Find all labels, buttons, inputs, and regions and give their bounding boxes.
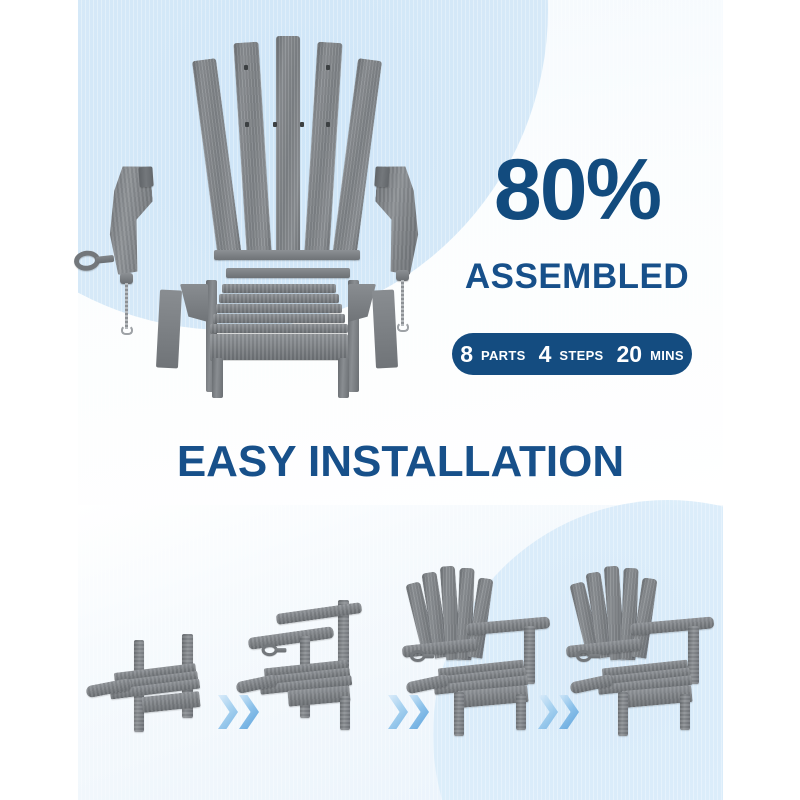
cross-support-bar	[226, 268, 350, 278]
backrest-top-arch-mask	[208, 0, 368, 50]
screw	[244, 65, 248, 70]
back-slat	[276, 36, 300, 258]
spec-mins-unit: MINS	[650, 349, 684, 362]
seat-plank	[213, 314, 345, 323]
double-chevron-right-icon	[538, 695, 558, 729]
seat-front-apron	[210, 334, 348, 360]
step4-rear-leg	[680, 694, 690, 730]
seat-base-assembly	[182, 280, 382, 400]
back-slat	[192, 58, 242, 259]
double-chevron-right-icon	[409, 695, 429, 729]
screw	[245, 122, 249, 127]
cupholder-ring	[262, 643, 287, 658]
assembly-step-4	[560, 560, 730, 740]
cupholder-arm	[589, 654, 600, 658]
screw	[326, 122, 330, 127]
double-chevron-right-icon	[388, 695, 408, 729]
step2-armrest-top	[276, 602, 363, 625]
step3-rear-leg	[516, 694, 526, 730]
spec-parts-unit: PARTS	[481, 349, 526, 362]
left-armrest-bracket	[138, 166, 153, 187]
step2-front-leg	[340, 696, 350, 730]
seat-plank	[219, 294, 339, 303]
page-title: EASY INSTALLATION	[78, 437, 723, 487]
cupholder-ring	[410, 649, 434, 663]
percent-assembled-value: 80%	[452, 150, 702, 230]
assembly-step-1	[86, 610, 236, 740]
spec-steps-unit: STEPS	[559, 349, 603, 362]
cupholder-arm	[423, 654, 434, 658]
backrest-bottom-rail	[214, 250, 360, 260]
hook	[397, 322, 409, 332]
seat-plank	[216, 304, 342, 313]
step3-front-leg	[454, 692, 464, 736]
hook	[121, 325, 133, 335]
screw	[273, 122, 277, 127]
spec-badge: 8 PARTS 4 STEPS 20 MINS	[452, 333, 692, 375]
step-arrow-1	[218, 695, 259, 729]
screw	[300, 122, 304, 127]
step4-front-leg	[618, 692, 628, 736]
back-slat	[233, 42, 272, 259]
cupholder-arm	[275, 648, 286, 652]
cupholder-arm	[96, 255, 115, 264]
seat-right-outer-panel	[372, 289, 398, 368]
product-infographic-poster: 80% ASSEMBLED 8 PARTS 4 STEPS 20 MINS EA…	[0, 0, 800, 800]
assembled-label: ASSEMBLED	[452, 258, 702, 296]
spec-steps-number: 4	[539, 343, 552, 366]
seat-front-leg-left	[212, 358, 223, 398]
cupholder-ring	[73, 246, 115, 274]
seat-plank	[210, 324, 348, 333]
step-arrow-3	[538, 695, 579, 729]
exploded-parts-diagram	[78, 18, 478, 398]
step2-armrest-near	[248, 626, 335, 650]
double-chevron-right-icon	[239, 695, 259, 729]
seat-front-leg-right	[338, 358, 349, 398]
double-chevron-right-icon	[559, 695, 579, 729]
seat-left-wing	[180, 284, 208, 322]
right-armrest-bracket	[374, 166, 389, 187]
step-arrow-2	[388, 695, 429, 729]
seat-plank	[222, 284, 336, 293]
chain	[125, 283, 128, 329]
double-chevron-right-icon	[218, 695, 238, 729]
backrest-fan-slats	[218, 28, 354, 258]
spec-mins-number: 20	[617, 343, 643, 366]
spec-parts-number: 8	[460, 343, 473, 366]
cupholder-ring	[576, 649, 600, 663]
assembly-steps-row	[78, 540, 723, 740]
seat-left-outer-panel	[156, 289, 182, 368]
chain	[401, 280, 404, 326]
screw	[326, 65, 330, 70]
right-armrest	[370, 165, 423, 276]
